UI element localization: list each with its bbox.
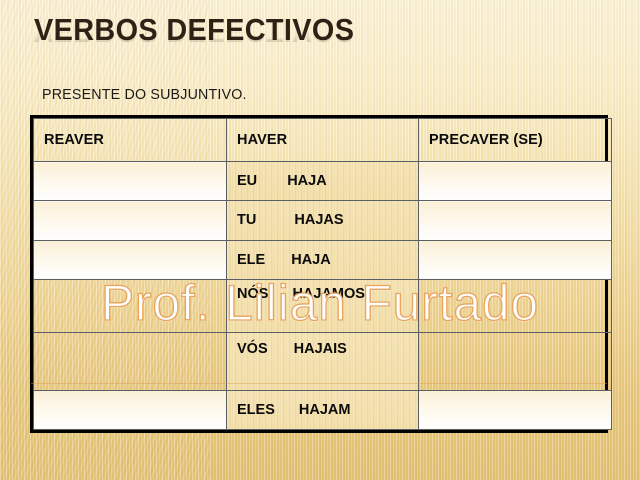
verb-form: HAJA (287, 173, 326, 189)
column-header-reaver: REAVER (34, 119, 227, 162)
cell-reaver (34, 332, 227, 390)
slide-canvas: VERBOS DEFECTIVOS VERBOS DEFECTIVOS PRES… (0, 0, 640, 480)
table-row: TU HAJAS (34, 201, 612, 240)
cell-haver: ELE HAJA (227, 240, 419, 279)
verb-form: HAJA (291, 252, 330, 268)
table-row: NÓS HAJAMOS (34, 279, 612, 332)
cell-precaver (419, 279, 612, 332)
column-header-precaver: PRECAVER (SE) (419, 119, 612, 162)
cell-haver: NÓS HAJAMOS (227, 279, 419, 332)
pronoun: EU (237, 173, 257, 189)
pronoun: ELE (237, 252, 265, 268)
table-row: ELE HAJA (34, 240, 612, 279)
verb-form: HAJAS (294, 212, 343, 228)
pronoun: TU (237, 212, 256, 228)
cell-precaver (419, 162, 612, 201)
verb-form: HAJAMOS (292, 286, 365, 302)
pronoun: NÓS (237, 286, 268, 302)
table-header-row: REAVER HAVER PRECAVER (SE) (34, 119, 612, 162)
cell-precaver (419, 201, 612, 240)
title-block: VERBOS DEFECTIVOS VERBOS DEFECTIVOS (34, 14, 614, 73)
page-title-reflection: VERBOS DEFECTIVOS (34, 21, 573, 47)
cell-precaver (419, 332, 612, 390)
verb-form: HAJAIS (294, 341, 347, 357)
table-row: ELES HAJAM (34, 390, 612, 429)
verb-form: HAJAM (299, 402, 351, 418)
cell-precaver (419, 390, 612, 429)
cell-reaver (34, 162, 227, 201)
cell-haver: ELES HAJAM (227, 390, 419, 429)
column-header-haver: HAVER (227, 119, 419, 162)
cell-reaver (34, 390, 227, 429)
cell-reaver (34, 240, 227, 279)
cell-reaver (34, 201, 227, 240)
table-row: VÓS HAJAIS (34, 332, 612, 390)
cell-precaver (419, 240, 612, 279)
subtitle: PRESENTE DO SUBJUNTIVO. (42, 86, 247, 103)
pronoun: ELES (237, 402, 275, 418)
cell-haver: VÓS HAJAIS (227, 332, 419, 390)
cell-haver: TU HAJAS (227, 201, 419, 240)
cell-reaver (34, 279, 227, 332)
conjugation-table: REAVER HAVER PRECAVER (SE) EU HAJA TU (30, 115, 608, 433)
pronoun: VÓS (237, 341, 268, 357)
cell-haver: EU HAJA (227, 162, 419, 201)
table-row: EU HAJA (34, 162, 612, 201)
